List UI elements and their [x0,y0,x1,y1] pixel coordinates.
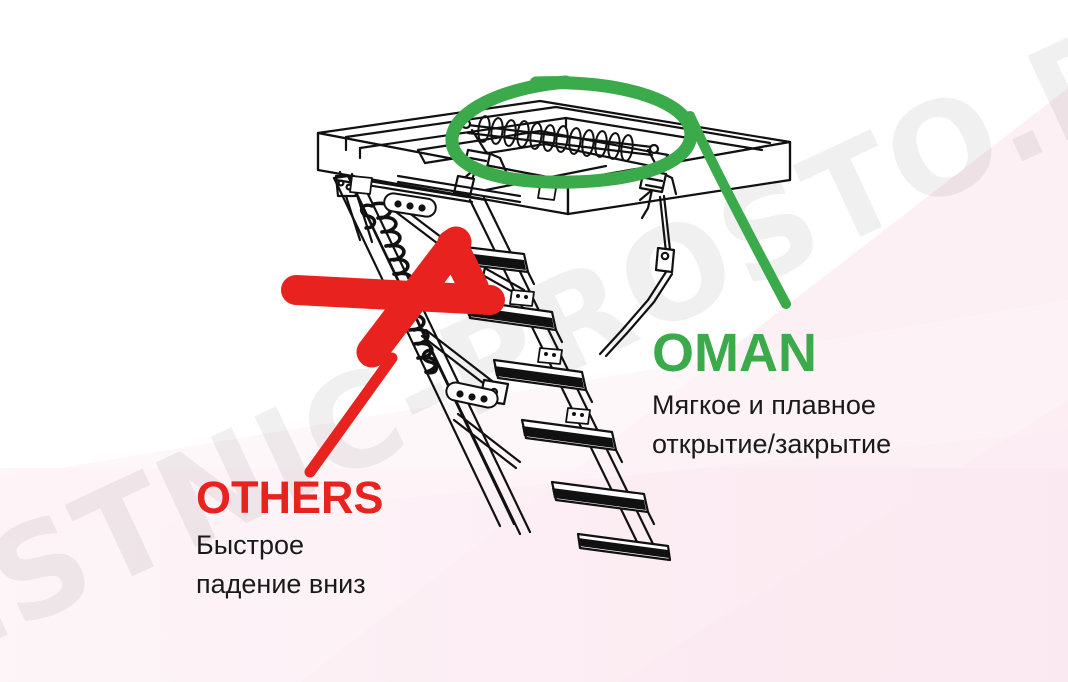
oman-headline: OMAN [652,326,891,380]
callout-oman: OMAN Мягкое и плавное открытие/закрытие [652,326,891,464]
oman-subline-1: Мягкое и плавное [652,386,891,425]
background-decoration [0,0,1068,682]
ladder-illustration [0,0,1068,682]
comparison-infographic: LESTNIC-PROSTO.RU [0,0,1068,682]
callout-others: OTHERS Быстрое падение вниз [196,475,384,604]
others-headline: OTHERS [196,475,384,520]
others-subline-2: падение вниз [196,565,384,604]
green-circle-icon [452,82,691,182]
annotation-layer [0,0,1068,682]
oman-subline-2: открытие/закрытие [652,425,891,464]
others-subline-1: Быстрое [196,526,384,565]
green-leader-line-icon [690,116,786,304]
site-watermark: LESTNIC-PROSTO.RU [0,0,1068,682]
red-arrow-icon [296,242,490,472]
